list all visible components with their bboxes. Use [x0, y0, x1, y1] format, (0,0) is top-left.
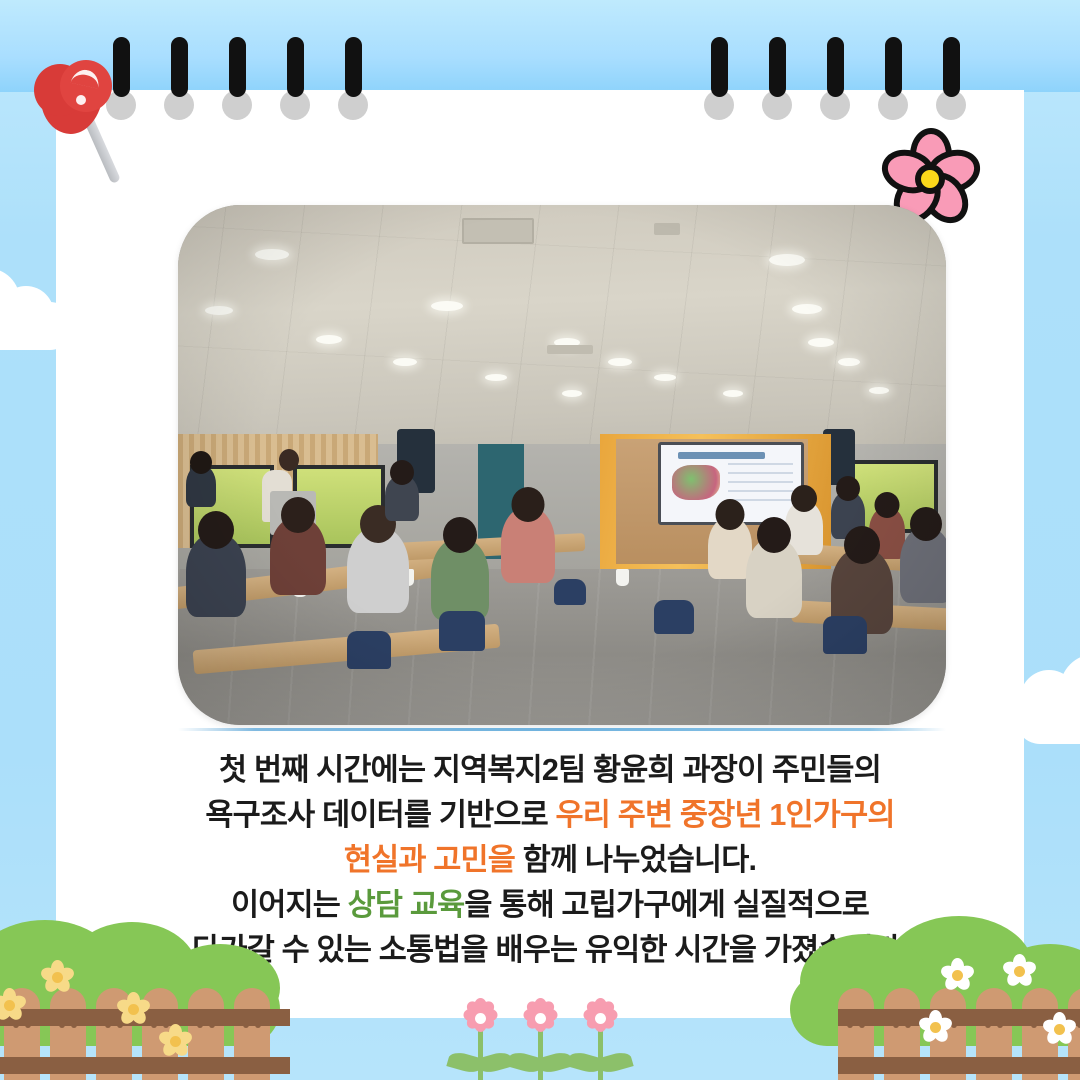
photo-divider	[178, 728, 946, 731]
binder-ring	[704, 62, 734, 92]
caption-text: 욕구조사 데이터를 기반으로	[205, 798, 555, 832]
binder-ring	[280, 62, 310, 92]
white-flower-icon	[1042, 1012, 1076, 1046]
caption-line-2: 욕구조사 데이터를 기반으로 우리 주변 중장년 1인가구의	[110, 793, 990, 838]
caption-text: 함께 나누었습니다.	[515, 843, 756, 877]
photo-vignette	[178, 205, 946, 725]
event-photo	[178, 205, 946, 725]
caption-highlight-orange: 현실과 고민을	[344, 843, 515, 877]
garden-decoration	[0, 920, 1080, 1080]
pink-daisy-icon	[564, 996, 636, 1080]
binder-ring	[820, 62, 850, 92]
white-flower-icon	[940, 958, 974, 992]
heart-icon	[34, 60, 114, 132]
caption-highlight-orange: 우리 주변 중장년 1인가구의	[556, 798, 895, 832]
white-flower-icon	[1002, 954, 1036, 988]
heart-pushpin-icon	[26, 50, 146, 180]
yellow-flower-icon	[40, 960, 74, 994]
cloud-right-bottom	[1016, 648, 1080, 744]
poster-stage: 첫 번째 시간에는 지역복지2팀 황윤희 과장이 주민들의 욕구조사 데이터를 …	[0, 0, 1080, 1080]
yellow-flower-icon	[158, 1024, 192, 1058]
yellow-flower-icon	[0, 988, 26, 1022]
caption-text: 첫 번째 시간에는 지역복지2팀 황윤희 과장이 주민들의	[219, 753, 881, 787]
binder-ring	[222, 62, 252, 92]
yellow-flower-icon	[116, 992, 150, 1026]
binder-ring	[762, 62, 792, 92]
white-flower-icon	[918, 1010, 952, 1044]
binder-ring	[878, 62, 908, 92]
caption-text: 이어지는	[231, 888, 348, 922]
binder-ring	[164, 62, 194, 92]
binder-ring	[338, 62, 368, 92]
caption-line-1: 첫 번째 시간에는 지역복지2팀 황윤희 과장이 주민들의	[110, 748, 990, 793]
caption-line-3: 현실과 고민을 함께 나누었습니다.	[110, 838, 990, 883]
sky-band	[0, 0, 1080, 92]
caption-text: 을 통해 고립가구에게 실질적으로	[464, 888, 869, 922]
caption-highlight-green: 상담 교육	[348, 888, 465, 922]
binder-ring	[936, 62, 966, 92]
